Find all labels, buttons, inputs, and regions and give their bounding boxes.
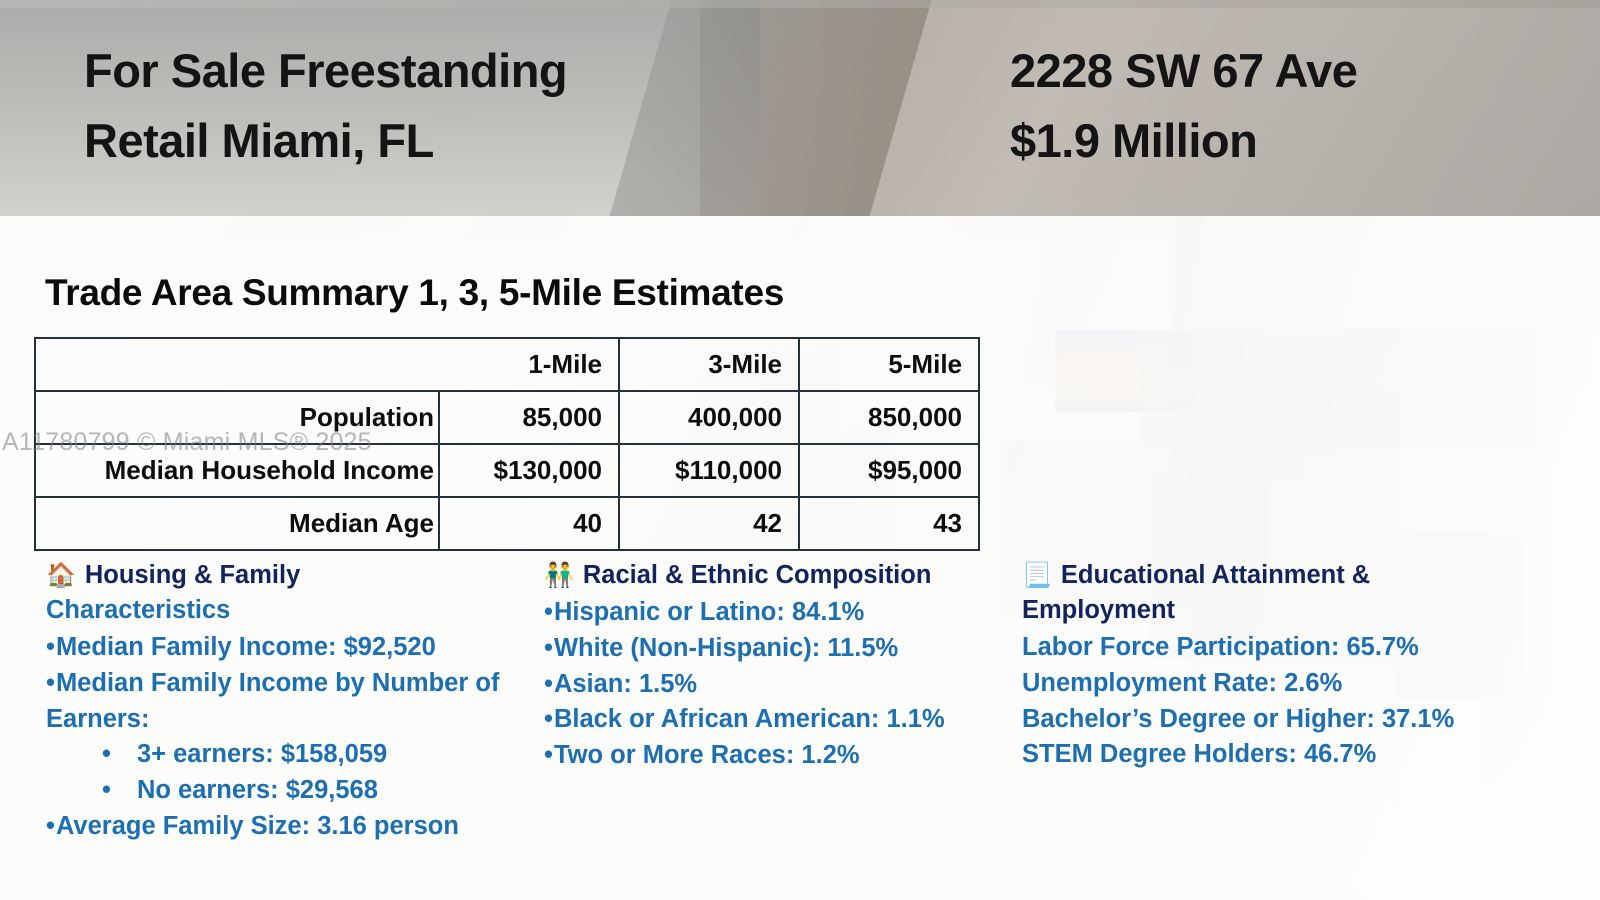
document-icon: 📃 <box>1022 562 1052 589</box>
header-top-strip <box>0 0 1600 8</box>
list-item: Hispanic or Latino: 84.1% <box>544 595 1014 631</box>
table-header-5-mile: 5-Mile <box>799 338 979 391</box>
list-item: Black or African American: 1.1% <box>544 702 1014 738</box>
bullet-dot: • <box>102 776 111 804</box>
list-item: White (Non-Hispanic): 11.5% <box>544 631 1014 667</box>
sub-list-item-label: No earners: $29,568 <box>137 776 378 804</box>
list-item: Bachelor’s Degree or Higher: 37.1% <box>1022 702 1562 738</box>
table-row: Median Age 40 42 43 <box>35 497 979 550</box>
list-item: •No earners: $29,568 <box>46 773 546 809</box>
race-column-heading: 👬Racial & Ethnic Composition <box>544 558 1014 593</box>
house-icon: 🏠 <box>46 562 76 589</box>
housing-heading-rest: Characteristics <box>46 596 230 624</box>
cell-income-3mile: $110,000 <box>619 444 799 497</box>
cell-age-1mile: 40 <box>439 497 619 550</box>
cell-population-5mile: 850,000 <box>799 391 979 444</box>
education-employment-column: 📃Educational Attainment & Employment Lab… <box>1022 558 1562 773</box>
list-item: •3+ earners: $158,059 <box>46 737 546 773</box>
two-people-icon: 👬 <box>544 562 574 589</box>
housing-family-column: 🏠Housing & Family Characteristics Median… <box>46 558 546 845</box>
table-row: Median Household Income $130,000 $110,00… <box>35 444 979 497</box>
race-heading-main: Racial & Ethnic Composition <box>583 561 932 589</box>
table-header-blank <box>35 338 439 391</box>
cell-population-1mile: 85,000 <box>439 391 619 444</box>
cell-population-3mile: 400,000 <box>619 391 799 444</box>
education-heading-rest: Employment <box>1022 596 1175 624</box>
table-row: Population 85,000 400,000 850,000 <box>35 391 979 444</box>
page-title: Trade Area Summary 1, 3, 5-Mile Estimate… <box>45 272 784 314</box>
row-label-population: Population <box>35 391 439 444</box>
housing-column-heading: 🏠Housing & Family Characteristics <box>46 558 546 628</box>
cell-age-3mile: 42 <box>619 497 799 550</box>
row-label-median-household-income: Median Household Income <box>35 444 439 497</box>
sub-list-item-label: 3+ earners: $158,059 <box>137 740 387 768</box>
table-header-row: 1-Mile 3-Mile 5-Mile <box>35 338 979 391</box>
list-item: Asian: 1.5% <box>544 667 1014 703</box>
housing-heading-main: Housing & Family <box>85 561 300 589</box>
racial-ethnic-column: 👬Racial & Ethnic Composition Hispanic or… <box>544 558 1014 774</box>
trade-area-table: 1-Mile 3-Mile 5-Mile Population 85,000 4… <box>34 337 980 551</box>
cell-income-1mile: $130,000 <box>439 444 619 497</box>
list-item: Unemployment Rate: 2.6% <box>1022 666 1562 702</box>
listing-address-price: 2228 SW 67 Ave $1.9 Million <box>1010 36 1357 175</box>
education-heading-main: Educational Attainment & <box>1061 561 1370 589</box>
bullet-dot: • <box>102 740 111 768</box>
list-item: Labor Force Participation: 65.7% <box>1022 630 1562 666</box>
list-item: Average Family Size: 3.16 person <box>46 809 546 845</box>
list-item: STEM Degree Holders: 46.7% <box>1022 737 1562 773</box>
row-label-median-age: Median Age <box>35 497 439 550</box>
list-item: Median Family Income: $92,520 <box>46 630 546 666</box>
listing-title: For Sale Freestanding Retail Miami, FL <box>84 36 567 175</box>
cell-age-5mile: 43 <box>799 497 979 550</box>
education-column-heading: 📃Educational Attainment & Employment <box>1022 558 1562 628</box>
list-item: Median Family Income by Number of Earner… <box>46 666 546 737</box>
cell-income-5mile: $95,000 <box>799 444 979 497</box>
list-item: Two or More Races: 1.2% <box>544 738 1014 774</box>
table-header-3-mile: 3-Mile <box>619 338 799 391</box>
table-header-1-mile: 1-Mile <box>439 338 619 391</box>
